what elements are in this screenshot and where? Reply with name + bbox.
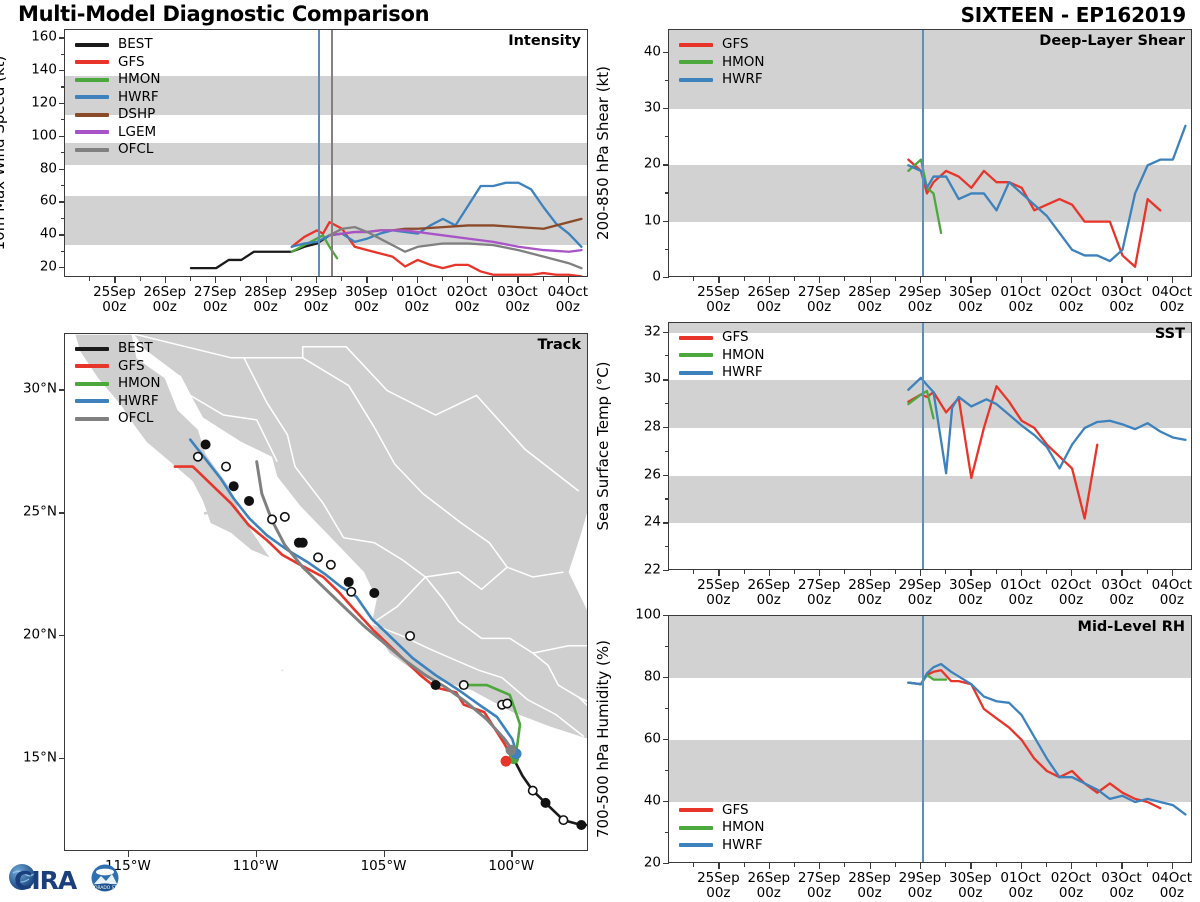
track-marker-open (194, 453, 202, 461)
lat-tick (59, 389, 65, 390)
x-tick-label: 29Sep00z (899, 285, 942, 315)
x-tick-label: 26Sep00z (747, 578, 790, 608)
y-tick-minor (61, 185, 65, 186)
x-date: 27Sep (798, 284, 841, 300)
x-date: 03Oct (1101, 284, 1142, 300)
x-tick-minor (744, 570, 745, 574)
x-tick (718, 863, 719, 869)
x-hour: 00z (304, 299, 328, 315)
legend-swatch-ofcl (75, 148, 109, 152)
legend-label: BEST (118, 342, 153, 356)
x-tick-label: 27Sep00z (194, 285, 237, 315)
y-tick (663, 739, 669, 740)
legend-label: OFCL (118, 143, 153, 157)
lat-tick (59, 635, 65, 636)
legend-swatch-gfs (679, 336, 713, 340)
x-tick-minor (140, 277, 141, 281)
y-tick-label: 60 (12, 195, 57, 209)
x-tick-label: 01Oct00z (1000, 285, 1041, 315)
y-tick-minor (61, 54, 65, 55)
x-date: 03Oct (1101, 577, 1142, 593)
island (281, 669, 283, 671)
x-hour: 00z (354, 299, 378, 315)
x-tick-minor (1096, 570, 1097, 574)
track-marker-open (281, 513, 289, 521)
track-marker-filled (229, 481, 239, 491)
legend-item-gfs: GFS (679, 36, 765, 54)
track-marker-filled (431, 680, 441, 690)
x-hour: 00z (1009, 885, 1033, 901)
x-hour: 00z (1109, 299, 1133, 315)
legend-item-gfs: GFS (75, 54, 161, 72)
legend-swatch-dshp (75, 113, 109, 117)
x-tick-label: 25Sep00z (697, 871, 740, 901)
x-tick (467, 277, 468, 283)
reference-vline (922, 30, 924, 276)
x-tick-minor (1046, 570, 1047, 574)
y-tick (59, 169, 65, 170)
y-tick-minor (665, 403, 669, 404)
x-hour: 00z (807, 885, 831, 901)
x-tick (266, 277, 267, 283)
model-init-marker-ofcl (506, 745, 517, 756)
y-tick (663, 427, 669, 428)
x-hour: 00z (908, 299, 932, 315)
legend-swatch-gfs (679, 43, 713, 47)
legend-intensity: BESTGFSHMONHWRFDSHPLGEMOFCL (75, 36, 161, 159)
legend-swatch-hmon (75, 78, 109, 82)
x-tick-minor (945, 277, 946, 281)
storm-id-title: SIXTEEN - EP162019 (961, 3, 1186, 27)
track-marker-filled (344, 577, 354, 587)
legend-swatch-hmon (679, 353, 713, 357)
intensity-panel: IntensityBESTGFSHMONHWRFDSHPLGEMOFCL (64, 29, 588, 277)
x-tick (870, 863, 871, 869)
x-tick-minor (1147, 570, 1148, 574)
series-line-hwrf (908, 664, 1185, 814)
x-tick (819, 570, 820, 576)
x-tick-minor (1046, 863, 1047, 867)
series-line-hwrf (908, 126, 1185, 261)
x-hour: 00z (857, 592, 881, 608)
x-tick (316, 277, 317, 283)
x-tick (920, 863, 921, 869)
x-tick-minor (693, 570, 694, 574)
panel-title: Intensity (508, 33, 581, 49)
track-marker-filled (201, 439, 211, 449)
track-marker-filled (369, 588, 379, 598)
x-hour: 00z (908, 885, 932, 901)
x-tick (517, 277, 518, 283)
best-track-marker (541, 798, 551, 808)
y-tick (663, 615, 669, 616)
best-track-marker (576, 820, 586, 830)
x-tick-minor (492, 277, 493, 281)
lon-tick (511, 851, 512, 857)
x-date: 26Sep (747, 577, 790, 593)
legend-label: HMON (722, 56, 765, 70)
y-tick-label: 0 (616, 270, 661, 284)
x-date: 29Sep (899, 870, 942, 886)
y-tick-label: 30 (616, 372, 661, 386)
lon-tick (256, 851, 257, 857)
x-tick-label: 03Oct00z (1101, 285, 1142, 315)
x-tick-label: 25Sep00z (93, 285, 136, 315)
x-date: 30Sep (949, 577, 992, 593)
x-hour: 00z (1009, 299, 1033, 315)
island (204, 512, 208, 515)
x-tick-label: 28Sep00z (848, 578, 891, 608)
track-marker-open (347, 588, 355, 596)
x-date: 28Sep (848, 870, 891, 886)
x-tick (568, 277, 569, 283)
x-date: 02Oct (1051, 284, 1092, 300)
x-date: 25Sep (93, 284, 136, 300)
track-marker-open (327, 561, 335, 569)
x-tick (1172, 863, 1173, 869)
x-hour: 00z (1059, 592, 1083, 608)
y-tick (663, 277, 669, 278)
x-tick (417, 277, 418, 283)
x-tick-label: 28Sep00z (244, 285, 287, 315)
legend-item-gfs: GFS (75, 358, 161, 376)
x-date: 26Sep (747, 284, 790, 300)
y-tick-label: 80 (12, 162, 57, 176)
x-date: 25Sep (697, 284, 740, 300)
reference-vline (331, 30, 333, 276)
legend-swatch-hwrf (75, 399, 109, 403)
x-hour: 00z (505, 299, 529, 315)
x-tick-label: 26Sep00z (747, 871, 790, 901)
x-date: 29Sep (899, 577, 942, 593)
y-tick-label: 100 (12, 129, 57, 143)
y-tick-minor (665, 80, 669, 81)
x-tick-minor (895, 277, 896, 281)
y-tick-label: 22 (616, 563, 661, 577)
x-date: 29Sep (295, 284, 338, 300)
x-tick-label: 26Sep00z (143, 285, 186, 315)
y-tick (59, 234, 65, 235)
x-date: 01Oct (396, 284, 437, 300)
legend-swatch-hwrf (679, 843, 713, 847)
x-tick-label: 02Oct00z (447, 285, 488, 315)
y-tick-label: 160 (12, 30, 57, 44)
y-tick-minor (665, 451, 669, 452)
y-tick (663, 570, 669, 571)
x-tick-minor (794, 570, 795, 574)
deep-layer-shear-panel: Deep-Layer ShearGFSHMONHWRF (668, 29, 1192, 277)
x-hour: 00z (102, 299, 126, 315)
legend-label: BEST (118, 38, 153, 52)
legend-swatch-gfs (679, 808, 713, 812)
x-date: 04Oct (1152, 284, 1193, 300)
x-tick (970, 277, 971, 283)
x-tick-label: 30Sep00z (949, 578, 992, 608)
legend-swatch-hwrf (679, 78, 713, 82)
svg-text:COLORADO STATE: COLORADO STATE (85, 885, 125, 891)
x-tick-minor (794, 863, 795, 867)
y-tick (59, 37, 65, 38)
x-tick-label: 30Sep00z (949, 285, 992, 315)
x-tick-minor (291, 277, 292, 281)
x-tick (114, 277, 115, 283)
x-hour: 00z (706, 299, 730, 315)
legend-item-hmon: HMON (679, 54, 765, 72)
x-tick-minor (543, 277, 544, 281)
y-tick-minor (61, 152, 65, 153)
x-tick (769, 863, 770, 869)
y-tick-minor (61, 119, 65, 120)
y-axis-label: 200-850 hPa Shear (kt) (594, 66, 612, 240)
page-title: Multi-Model Diagnostic Comparison (18, 2, 429, 26)
x-date: 01Oct (1000, 284, 1041, 300)
lat-tick-label: 15°N (2, 751, 57, 765)
x-hour: 00z (807, 299, 831, 315)
x-hour: 00z (1160, 299, 1184, 315)
x-tick (1071, 277, 1072, 283)
x-tick-label: 01Oct00z (396, 285, 437, 315)
y-tick-minor (61, 86, 65, 87)
lat-tick-label: 30°N (2, 383, 57, 397)
x-date: 27Sep (798, 870, 841, 886)
x-tick (1071, 863, 1072, 869)
x-tick-minor (341, 277, 342, 281)
lat-tick (59, 512, 65, 513)
y-tick-label: 20 (616, 856, 661, 870)
x-tick (1071, 570, 1072, 576)
y-tick (59, 201, 65, 202)
x-hour: 00z (1109, 592, 1133, 608)
y-tick-minor (665, 646, 669, 647)
legend-swatch-hmon (679, 60, 713, 64)
legend-rh: GFSHMONHWRF (679, 802, 765, 855)
x-tick-label: 29Sep00z (899, 871, 942, 901)
legend-label: HMON (118, 377, 161, 391)
y-tick (663, 52, 669, 53)
x-tick-minor (996, 570, 997, 574)
series-line-ofcl (330, 227, 582, 268)
legend-label: GFS (722, 331, 749, 345)
y-tick-minor (665, 546, 669, 547)
x-hour: 00z (757, 885, 781, 901)
legend-swatch-lgem (75, 130, 109, 134)
lon-tick-label: 110°W (233, 859, 279, 874)
legend-label: HMON (722, 349, 765, 363)
x-tick (970, 570, 971, 576)
y-axis-label: 700-500 hPa Humidity (%) (594, 640, 612, 838)
panel-title: Track (538, 337, 581, 353)
legend-swatch-ofcl (75, 417, 109, 421)
x-tick-minor (1147, 863, 1148, 867)
legend-label: HMON (722, 821, 765, 835)
legend-item-gfs: GFS (679, 329, 765, 347)
x-date: 30Sep (949, 284, 992, 300)
x-hour: 00z (857, 299, 881, 315)
x-hour: 00z (757, 592, 781, 608)
x-hour: 00z (857, 885, 881, 901)
legend-label: GFS (722, 38, 749, 52)
x-date: 03Oct (497, 284, 538, 300)
x-tick (870, 277, 871, 283)
y-tick (663, 677, 669, 678)
x-tick-minor (945, 570, 946, 574)
x-tick-label: 03Oct00z (1101, 871, 1142, 901)
y-tick (59, 70, 65, 71)
x-hour: 00z (153, 299, 177, 315)
legend-item-hmon: HMON (75, 71, 161, 89)
x-tick (165, 277, 166, 283)
x-tick-label: 29Sep00z (295, 285, 338, 315)
legend-label: LGEM (118, 126, 156, 140)
x-tick (970, 863, 971, 869)
x-tick-label: 28Sep00z (848, 871, 891, 901)
x-tick (1121, 570, 1122, 576)
x-tick-minor (844, 863, 845, 867)
x-date: 29Sep (899, 284, 942, 300)
y-tick-minor (665, 249, 669, 250)
x-date: 28Sep (244, 284, 287, 300)
x-hour: 00z (706, 885, 730, 901)
y-tick-label: 20 (616, 158, 661, 172)
x-tick (366, 277, 367, 283)
x-tick-minor (1096, 863, 1097, 867)
x-tick-minor (744, 863, 745, 867)
x-hour: 00z (958, 885, 982, 901)
reference-vline (922, 323, 924, 569)
reference-vline (922, 616, 924, 862)
track-marker-filled (244, 496, 254, 506)
x-hour: 00z (1009, 592, 1033, 608)
y-tick-minor (665, 192, 669, 193)
panel-title: Deep-Layer Shear (1039, 33, 1185, 49)
y-tick (663, 221, 669, 222)
legend-track: BESTGFSHMONHWRFOFCL (75, 340, 161, 428)
y-tick-label: 26 (616, 468, 661, 482)
y-tick-label: 100 (616, 608, 661, 622)
x-date: 02Oct (1051, 577, 1092, 593)
svg-text:CIRA: CIRA (14, 866, 78, 895)
x-tick-label: 25Sep00z (697, 285, 740, 315)
x-tick-label: 04Oct00z (1152, 578, 1193, 608)
x-date: 27Sep (194, 284, 237, 300)
panel-title: Mid-Level RH (1078, 619, 1185, 635)
y-axis-label: Sea Surface Temp (°C) (594, 361, 612, 530)
y-tick (663, 863, 669, 864)
panel-title: SST (1155, 326, 1185, 342)
x-tick-label: 04Oct00z (1152, 871, 1193, 901)
y-axis-label: 10m Max Wind Speed (kt) (0, 56, 8, 251)
legend-label: HWRF (722, 839, 763, 853)
x-date: 04Oct (1152, 577, 1193, 593)
x-hour: 00z (958, 592, 982, 608)
lat-tick-label: 20°N (2, 628, 57, 642)
y-tick-minor (665, 498, 669, 499)
legend-label: HWRF (722, 73, 763, 87)
legend-item-gfs: GFS (679, 802, 765, 820)
x-date: 01Oct (1000, 870, 1041, 886)
x-tick-label: 02Oct00z (1051, 871, 1092, 901)
legend-label: HWRF (722, 366, 763, 380)
x-tick-minor (1046, 277, 1047, 281)
y-tick (59, 136, 65, 137)
y-tick-label: 32 (616, 325, 661, 339)
y-tick (663, 801, 669, 802)
x-tick-minor (996, 277, 997, 281)
x-hour: 00z (455, 299, 479, 315)
x-date: 30Sep (345, 284, 388, 300)
series-line-hmon (908, 160, 941, 233)
x-tick-label: 28Sep00z (848, 285, 891, 315)
series-line-lgem (330, 230, 582, 251)
legend-item-hwrf: HWRF (679, 837, 765, 855)
y-tick (663, 379, 669, 380)
x-tick (1021, 863, 1022, 869)
y-tick-label: 40 (616, 45, 661, 59)
x-tick-label: 27Sep00z (798, 578, 841, 608)
x-hour: 00z (1160, 592, 1184, 608)
legend-label: HWRF (118, 91, 159, 105)
x-hour: 00z (757, 299, 781, 315)
legend-label: GFS (722, 804, 749, 818)
x-tick-label: 27Sep00z (798, 871, 841, 901)
legend-item-best: BEST (75, 340, 161, 358)
cira-logo: CIRA COLORADO STATE (6, 856, 128, 898)
legend-swatch-hmon (75, 382, 109, 386)
x-tick-label: 29Sep00z (899, 578, 942, 608)
legend-swatch-gfs (75, 60, 109, 64)
x-date: 02Oct (447, 284, 488, 300)
y-tick-label: 60 (616, 732, 661, 746)
y-tick-label: 24 (616, 516, 661, 530)
x-tick-minor (945, 863, 946, 867)
x-tick (920, 277, 921, 283)
legend-swatch-best (75, 347, 109, 351)
y-tick-minor (665, 708, 669, 709)
x-tick-label: 30Sep00z (345, 285, 388, 315)
lon-tick-label: 105°W (361, 859, 407, 874)
series-line-best (191, 235, 330, 268)
x-tick (718, 570, 719, 576)
y-tick (663, 475, 669, 476)
y-tick-minor (665, 136, 669, 137)
x-date: 27Sep (798, 577, 841, 593)
x-date: 28Sep (848, 577, 891, 593)
series-line-gfs (908, 670, 1160, 808)
y-tick-minor (665, 770, 669, 771)
x-tick-label: 03Oct00z (497, 285, 538, 315)
x-tick-label: 27Sep00z (798, 285, 841, 315)
x-tick-minor (392, 277, 393, 281)
legend-item-dshp: DSHP (75, 106, 161, 124)
legend-swatch-best (75, 43, 109, 47)
legend-swatch-hmon (679, 826, 713, 830)
y-tick-label: 40 (616, 794, 661, 808)
track-line-best (514, 759, 588, 825)
y-tick-label: 30 (616, 101, 661, 115)
x-tick (1121, 277, 1122, 283)
y-tick (59, 103, 65, 104)
legend-item-lgem: LGEM (75, 124, 161, 142)
x-tick (1172, 570, 1173, 576)
x-date: 02Oct (1051, 870, 1092, 886)
x-tick (1121, 863, 1122, 869)
y-tick (663, 332, 669, 333)
x-tick-minor (1096, 277, 1097, 281)
y-tick-label: 80 (616, 670, 661, 684)
x-tick-minor (89, 277, 90, 281)
x-tick (819, 863, 820, 869)
x-date: 30Sep (949, 870, 992, 886)
